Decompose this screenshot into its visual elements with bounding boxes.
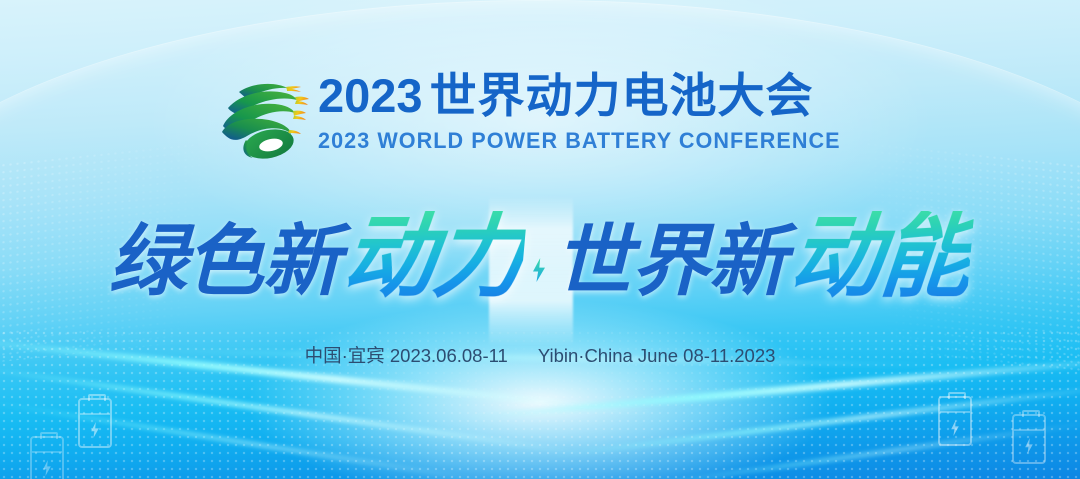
slogan-part2-brush: 动能 [786, 211, 974, 303]
conference-title-year: 2023 [318, 69, 423, 122]
globe-leaf-logo-icon [213, 70, 309, 166]
conference-banner: 2023世界动力电池大会 2023 WORLD POWER BATTERY CO… [0, 0, 1080, 479]
slogan-part1-plain: 绿色新 [108, 222, 339, 300]
conference-title-en: 2023 WORLD POWER BATTERY CONFERENCE [318, 128, 841, 154]
lightning-bolt-icon [532, 258, 547, 282]
battery-bolt-icon [938, 396, 972, 446]
battery-bolt-icon [1012, 414, 1046, 464]
header-text-block: 2023世界动力电池大会 2023 WORLD POWER BATTERY CO… [318, 72, 862, 154]
battery-bolt-icon [78, 398, 112, 448]
date-location-en: Yibin·China June 08-11.2023 [538, 345, 776, 366]
battery-bolt-icon [30, 436, 64, 479]
slogan-part1-brush: 动力 [340, 211, 528, 303]
slogan-line: 绿色新 动力 世界新 动能 [0, 196, 1080, 326]
date-location-cn: 中国·宜宾 2023.06.08-11 [305, 345, 508, 366]
conference-title-cn: 2023世界动力电池大会 [318, 72, 862, 119]
date-location-line: 中国·宜宾 2023.06.08-11Yibin·China June 08-1… [0, 342, 1080, 368]
conference-title-cn-text: 世界动力电池大会 [430, 69, 814, 122]
slogan-part2-plain: 世界新 [555, 222, 786, 300]
